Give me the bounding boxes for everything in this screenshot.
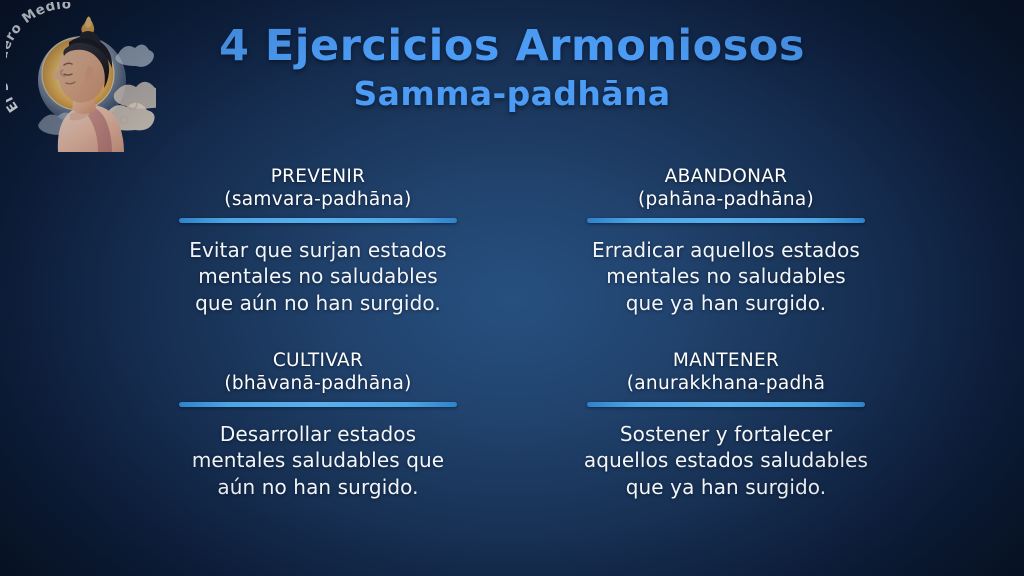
exercise-pali-term: (pahāna-padhāna) [638, 189, 814, 212]
exercise-divider-rule [179, 402, 457, 407]
exercise-pali-term: (samvara-padhāna) [224, 189, 411, 212]
exercise-card-prevenir: PREVENIR (samvara-padhāna) Evitar que su… [142, 166, 494, 332]
exercise-label: MANTENER [673, 350, 779, 371]
exercise-heading: PREVENIR (samvara-padhāna) [224, 166, 411, 212]
description-line: mentales saludables que [192, 447, 444, 474]
exercise-divider-rule [179, 218, 457, 223]
description-line: que ya han surgido. [592, 290, 860, 317]
description-line: que aún no han surgido. [189, 290, 447, 317]
description-line: que ya han surgido. [584, 474, 868, 501]
exercise-card-cultivar: CULTIVAR (bhāvanā-padhāna) Desarrollar e… [142, 350, 494, 516]
exercise-description: Erradicar aquellos estados mentales no s… [592, 237, 860, 317]
description-line: Sostener y fortalecer [584, 421, 868, 448]
exercise-heading: CULTIVAR (bhāvanā-padhāna) [224, 350, 411, 396]
description-line: Evitar que surjan estados [189, 237, 447, 264]
el-sendero-medio-logo: El Sendero Medio [6, 2, 156, 152]
exercise-description: Evitar que surjan estados mentales no sa… [189, 237, 447, 317]
description-line: aquellos estados saludables [584, 447, 868, 474]
slide-canvas: El Sendero Medio 4 Ejercicios Armoniosos… [0, 0, 1024, 576]
exercise-description: Desarrollar estados mentales saludables … [192, 421, 444, 501]
description-line: mentales no saludables [592, 263, 860, 290]
exercise-description: Sostener y fortalecer aquellos estados s… [584, 421, 868, 501]
exercise-label: PREVENIR [271, 166, 366, 187]
exercise-divider-rule [587, 218, 865, 223]
exercise-label: CULTIVAR [273, 350, 363, 371]
exercise-label: ABANDONAR [665, 166, 788, 187]
description-line: Desarrollar estados [192, 421, 444, 448]
description-line: mentales no saludables [189, 263, 447, 290]
exercise-card-mantener: MANTENER (anurakkhana-padhā Sostener y f… [550, 350, 902, 516]
exercise-divider-rule [587, 402, 865, 407]
exercise-pali-term: (anurakkhana-padhā [627, 373, 825, 396]
description-line: Erradicar aquellos estados [592, 237, 860, 264]
exercise-heading: ABANDONAR (pahāna-padhāna) [638, 166, 814, 212]
exercise-grid: PREVENIR (samvara-padhāna) Evitar que su… [142, 166, 902, 516]
exercise-heading: MANTENER (anurakkhana-padhā [627, 350, 825, 396]
exercise-pali-term: (bhāvanā-padhāna) [224, 373, 411, 396]
exercise-card-abandonar: ABANDONAR (pahāna-padhāna) Erradicar aqu… [550, 166, 902, 332]
description-line: aún no han surgido. [192, 474, 444, 501]
